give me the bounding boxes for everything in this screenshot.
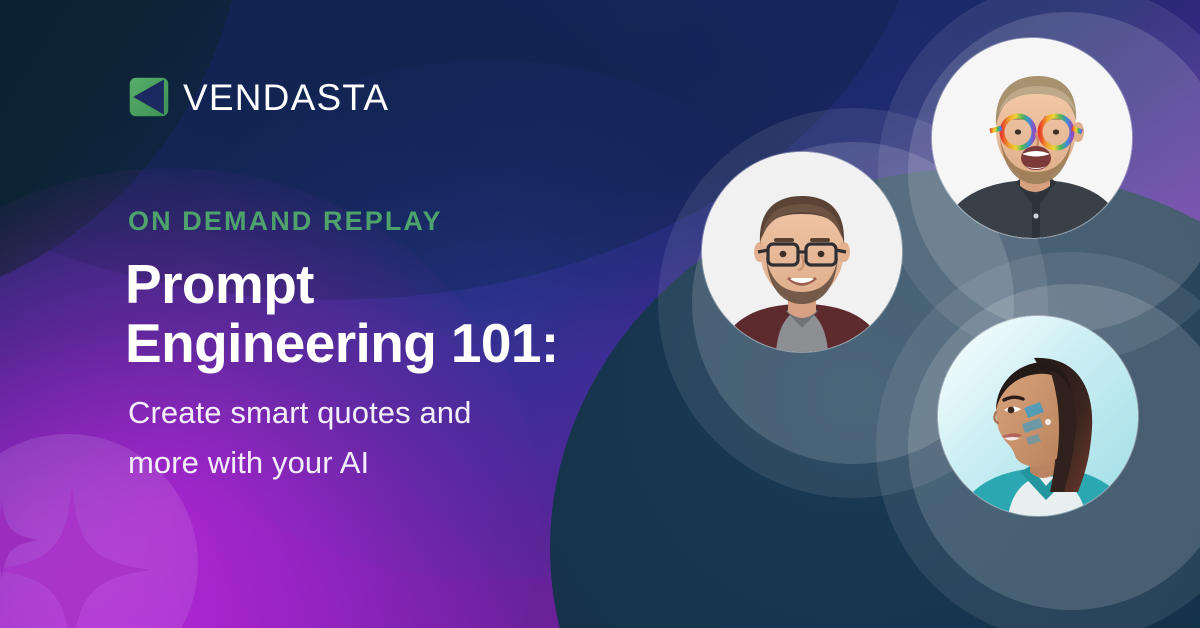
subhead-line-1: Create smart quotes and	[128, 388, 598, 438]
page-subtitle: Create smart quotes and more with your A…	[128, 388, 598, 488]
vendasta-logo-mark	[128, 76, 170, 118]
headline-line-2: Engineering 101:	[125, 314, 725, 373]
presenter-1-photo	[702, 152, 902, 352]
presenter-2-photo	[932, 38, 1132, 238]
presenter-3-photo	[938, 316, 1138, 516]
subhead-line-2: more with your AI	[128, 438, 598, 488]
eyebrow-label: ON DEMAND REPLAY	[128, 206, 443, 237]
avatar-presenter-1	[702, 152, 902, 352]
content-column: VENDASTA ON DEMAND REPLAY Prompt Enginee…	[128, 0, 688, 628]
headline-line-1: Prompt	[125, 255, 725, 314]
avatar-presenter-2	[932, 38, 1132, 238]
brand-logo[interactable]: VENDASTA	[128, 76, 389, 118]
webinar-promo-banner: VENDASTA ON DEMAND REPLAY Prompt Enginee…	[0, 0, 1200, 628]
avatar-presenter-3	[938, 316, 1138, 516]
page-title: Prompt Engineering 101:	[125, 255, 725, 374]
brand-wordmark: VENDASTA	[183, 79, 389, 116]
presenter-portrait-cluster	[640, 0, 1200, 628]
